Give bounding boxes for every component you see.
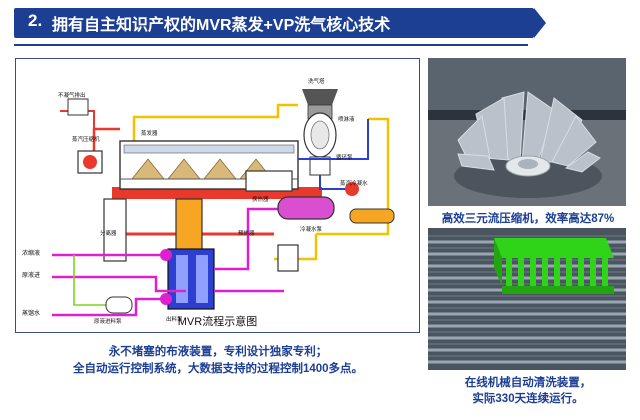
- auto-cleaning-device-photo: [428, 228, 626, 370]
- header-underline: [14, 44, 528, 46]
- compressor-caption: 高效三元流压缩机，效率高达87%: [428, 210, 628, 226]
- diagram-caption: MVR流程示意图: [15, 313, 420, 329]
- mvr-flow-svg: [16, 59, 419, 332]
- compressor-impeller-photo: [428, 58, 626, 206]
- impeller-illustration: [428, 58, 626, 206]
- cleaning-device-illustration: [428, 228, 626, 370]
- page-title: 拥有自主知识产权的MVR蒸发+VP洗气核心技术: [52, 11, 390, 35]
- cleaning-device-caption-line2: 实际330天连续运行。: [428, 391, 628, 407]
- mvr-flow-diagram-panel: 不凝气排出 蒸汽压缩机 蒸发器 洗气塔 喷淋液 循环泵 蒸汽冷凝水 换热器 分离…: [15, 58, 420, 333]
- cleaning-device-caption-line1: 在线机械自动清洗装置，: [428, 375, 628, 391]
- left-note-line1: 永不堵塞的布液装置，专利设计独家专利；: [18, 344, 418, 361]
- left-note: 永不堵塞的布液装置，专利设计独家专利； 全自动运行控制系统，大数据支持的过程控制…: [18, 344, 418, 378]
- left-note-line2: 全自动运行控制系统，大数据支持的过程控制1400多点。: [18, 361, 418, 378]
- header-number: 2.: [28, 11, 42, 31]
- slide-header: 2. 拥有自主知识产权的MVR蒸发+VP洗气核心技术: [0, 8, 640, 42]
- cleaning-device-caption: 在线机械自动清洗装置， 实际330天连续运行。: [428, 375, 628, 407]
